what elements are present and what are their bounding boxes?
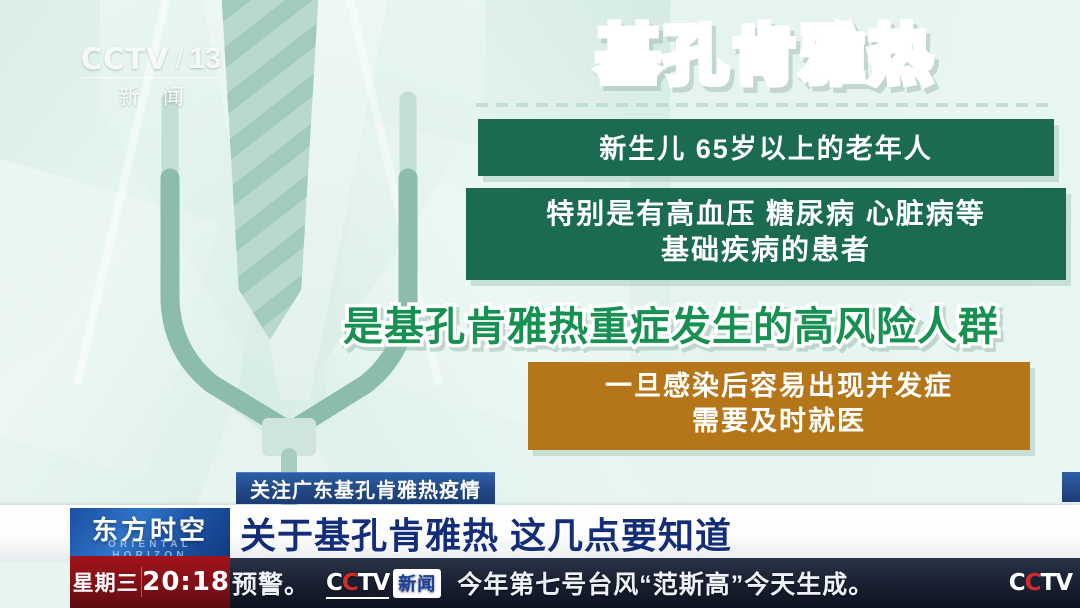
risk-group-band-1: 新生儿 65岁以上的老年人 <box>478 119 1054 176</box>
cctv-logo-underline <box>326 597 389 599</box>
cctv-news-logo-icon: CCTV 新闻 <box>326 569 441 598</box>
ticker-body-text: 今年第七号台风“范斯高”今天生成。 <box>457 565 874 601</box>
cctv-watermark-c2: C <box>1025 570 1041 596</box>
topic-tag: 关注广东基孔肯雅热疫情 <box>236 472 495 504</box>
news-headline: 关于基孔肯雅热 这几点要知道 <box>240 508 732 558</box>
clock-time: 20:18 <box>142 567 230 597</box>
cctv-logo-tv: TV <box>358 570 390 596</box>
complication-warning-band: 一旦感染后容易出现并发症 需要及时就医 <box>528 362 1030 450</box>
risk-group-band-2-line-2: 基础疾病的患者 <box>482 232 1050 268</box>
channel-bug-subtitle: 新 闻 <box>76 81 226 111</box>
program-name-en: ORIENTAL HORIZON <box>70 539 230 556</box>
complication-warning-line-2: 需要及时就医 <box>544 404 1014 439</box>
broadcast-frame: CCTV / 13 新 闻 基孔肯雅热 新生儿 65岁以上的老年人 特别是有高血… <box>0 0 1080 608</box>
channel-bug-number: 13 <box>189 43 221 76</box>
cctv-watermark-c1: C <box>1009 570 1025 596</box>
channel-bug-slash: / <box>176 44 184 75</box>
dashed-divider <box>476 103 1056 107</box>
high-risk-statement: 是基孔肯雅热重症发生的高风险人群 <box>276 294 1066 352</box>
weekday-label: 星期三 <box>70 567 141 597</box>
page-title: 基孔肯雅热 <box>466 22 1066 91</box>
cctv-logo-letters: CCTV <box>326 570 389 596</box>
complication-warning-line-1: 一旦感染后容易出现并发症 <box>544 369 1014 404</box>
program-logo: 东方时空 ORIENTAL HORIZON <box>70 508 230 556</box>
cctv-13-channel-bug: CCTV / 13 新 闻 <box>76 42 226 111</box>
risk-group-band-2-line-1: 特别是有高血压 糖尿病 心脏病等 <box>482 196 1050 232</box>
lower-third-blue-tab <box>1062 472 1080 502</box>
info-graphic-panel: 基孔肯雅热 新生儿 65岁以上的老年人 特别是有高血压 糖尿病 心脏病等 基础疾… <box>466 22 1066 450</box>
channel-bug-rule <box>82 77 220 78</box>
cctv-watermark-icon: CCTV <box>1009 570 1072 596</box>
risk-group-band-2: 特别是有高血压 糖尿病 心脏病等 基础疾病的患者 <box>466 188 1066 280</box>
risk-group-band-1-text: 新生儿 65岁以上的老年人 <box>599 134 933 164</box>
cctv-logo-c1: C <box>326 570 342 596</box>
news-ticker-bar: 预警。 CCTV 新闻 今年第七号台风“范斯高”今天生成。 CCTV <box>230 558 1080 608</box>
topic-tag-text: 关注广东基孔肯雅热疫情 <box>250 474 481 503</box>
news-ticker-content: 预警。 CCTV 新闻 今年第七号台风“范斯高”今天生成。 <box>230 565 874 601</box>
cctv-logo-c2: C <box>342 570 358 596</box>
cctv-news-badge: 新闻 <box>393 569 441 598</box>
cctv-watermark-tv: TV <box>1041 570 1073 596</box>
ticker-lead-text: 预警。 <box>232 565 310 601</box>
channel-bug-cctv-text: CCTV <box>81 42 170 76</box>
clock-bar: 星期三 20:18 <box>70 556 230 608</box>
